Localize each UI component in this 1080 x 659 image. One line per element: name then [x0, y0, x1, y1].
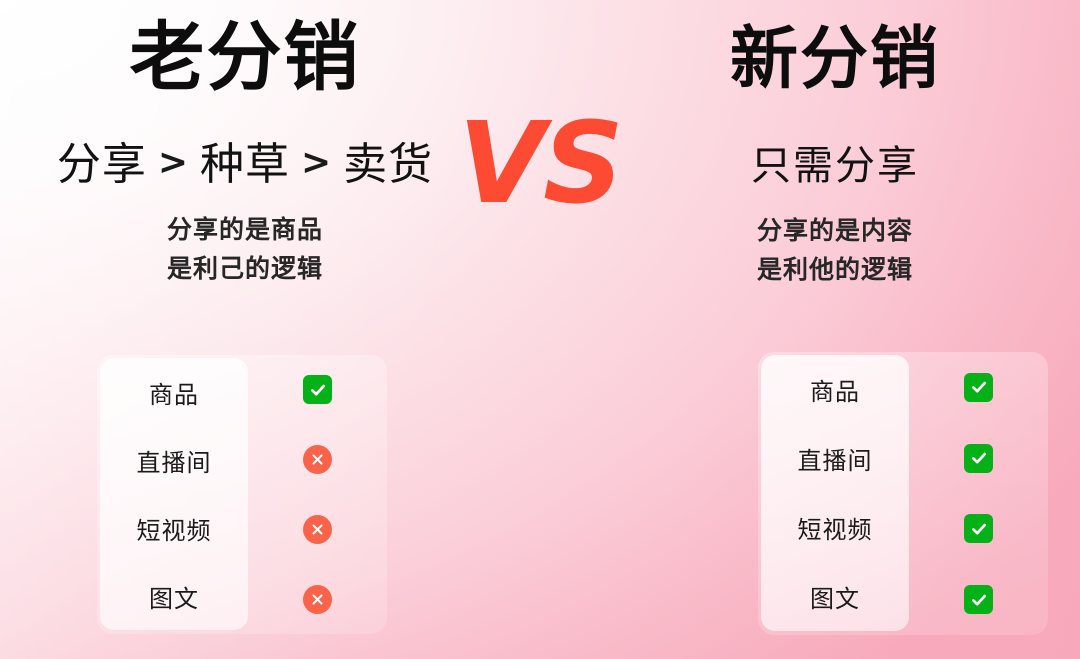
- feature-label: 短视频: [798, 510, 873, 545]
- left-caption: 分享的是商品 是利己的逻辑: [167, 211, 323, 289]
- chevron-right-icon-2: >: [301, 145, 332, 181]
- table-row-status: [909, 423, 1048, 494]
- table-row: 商品: [761, 355, 909, 424]
- feature-label: 图文: [149, 579, 199, 614]
- table-row-status: [909, 494, 1048, 565]
- table-row-status: [909, 564, 1048, 635]
- check-icon: [964, 585, 993, 614]
- table-row-status: [248, 425, 387, 495]
- table-row: 短视频: [761, 493, 909, 562]
- left-caption-line-1: 分享的是商品: [167, 211, 323, 250]
- check-icon: [964, 444, 993, 473]
- right-feature-mark-column: [909, 352, 1048, 635]
- table-row-status: [248, 355, 387, 425]
- right-feature-label-column: 商品直播间短视频图文: [761, 355, 909, 631]
- feature-label: 图文: [810, 579, 860, 614]
- chevron-right-icon-1: >: [158, 145, 189, 181]
- feature-label: 直播间: [137, 443, 212, 478]
- right-panel: 新分销 只需分享 分享的是内容 是利他的逻辑: [590, 0, 1080, 290]
- cross-icon: [303, 585, 332, 614]
- cross-icon: [303, 515, 332, 544]
- left-feature-label-column: 商品直播间短视频图文: [100, 358, 248, 630]
- right-feature-table: 商品直播间短视频图文: [758, 352, 1048, 635]
- check-icon: [303, 375, 332, 404]
- left-caption-line-2: 是利己的逻辑: [167, 250, 323, 289]
- right-caption-line-1: 分享的是内容: [757, 212, 913, 251]
- table-row: 直播间: [100, 426, 248, 494]
- right-caption-line-2: 是利他的逻辑: [757, 251, 913, 290]
- right-flow: 只需分享: [751, 146, 919, 186]
- left-flow: 分享 > 种草 > 卖货: [57, 143, 433, 187]
- right-flow-step-1: 只需分享: [751, 146, 919, 186]
- table-row: 短视频: [100, 494, 248, 562]
- left-flow-step-2: 种草: [200, 143, 290, 187]
- table-row: 图文: [100, 562, 248, 630]
- cross-icon: [303, 445, 332, 474]
- feature-label: 直播间: [798, 441, 873, 476]
- table-row: 直播间: [761, 424, 909, 493]
- feature-label: 商品: [810, 372, 860, 407]
- table-row: 图文: [761, 562, 909, 631]
- right-caption: 分享的是内容 是利他的逻辑: [757, 212, 913, 290]
- comparison-poster: 老分销 分享 > 种草 > 卖货 分享的是商品 是利己的逻辑 VS 新分销 只需…: [0, 0, 1080, 659]
- feature-label: 商品: [149, 375, 199, 410]
- left-flow-step-1: 分享: [57, 143, 147, 187]
- left-flow-step-3: 卖货: [343, 143, 433, 187]
- check-icon: [964, 514, 993, 543]
- feature-label: 短视频: [137, 511, 212, 546]
- table-row: 商品: [100, 358, 248, 426]
- left-headline: 老分销: [129, 20, 360, 95]
- left-panel: 老分销 分享 > 种草 > 卖货 分享的是商品 是利己的逻辑: [0, 0, 490, 289]
- right-headline: 新分销: [730, 26, 940, 94]
- table-row-status: [909, 352, 1048, 423]
- table-row-status: [248, 564, 387, 634]
- left-feature-table: 商品直播间短视频图文: [97, 355, 387, 634]
- left-feature-mark-column: [248, 355, 387, 634]
- check-icon: [964, 373, 993, 402]
- table-row-status: [248, 495, 387, 565]
